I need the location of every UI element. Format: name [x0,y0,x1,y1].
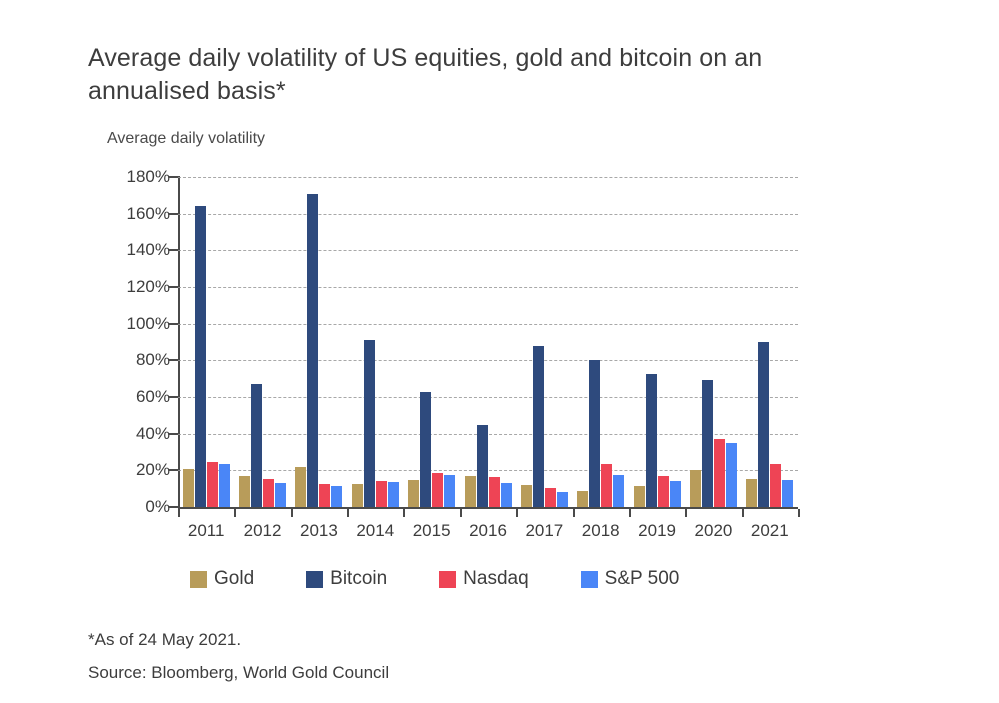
x-axis-tick-label: 2021 [751,521,789,541]
x-axis-tick [573,509,575,517]
y-axis-tick-label: 80% [98,350,170,370]
bar [658,476,669,507]
bar-group [352,177,399,507]
x-axis-line [178,507,798,509]
bar [352,484,363,507]
x-axis-tick-label: 2014 [356,521,394,541]
y-axis-tick-label: 60% [98,387,170,407]
bar [634,486,645,507]
bar [364,340,375,507]
page-title: Average daily volatility of US equities,… [88,42,848,108]
bar [275,483,286,507]
y-axis-tick-label: 120% [98,277,170,297]
bar [545,488,556,507]
bar [183,469,194,507]
bar [388,482,399,507]
y-axis-tick-label: 0% [98,497,170,517]
bar [408,480,419,507]
legend-label: Nasdaq [463,568,529,590]
x-axis-tick-label: 2020 [695,521,733,541]
y-axis-tick-label: 40% [98,424,170,444]
x-axis-tick [403,509,405,517]
footnote-source: Source: Bloomberg, World Gold Council [88,663,389,683]
legend-item[interactable]: Bitcoin [306,568,387,590]
bar [331,486,342,507]
bar [726,443,737,507]
x-axis-labels: 2011201220132014201520162017201820192020… [178,521,798,549]
x-axis-tick [629,509,631,517]
footnote-asof: *As of 24 May 2021. [88,630,241,650]
legend-swatch-icon [306,571,323,588]
legend-item[interactable]: S&P 500 [581,568,680,590]
bar [782,480,793,507]
bar [319,484,330,507]
bar [746,479,757,507]
bar [489,477,500,507]
legend: GoldBitcoinNasdaqS&P 500 [190,568,731,590]
x-axis-tick [291,509,293,517]
y-axis-caption: Average daily volatility [107,130,265,148]
bar [432,473,443,507]
bar [589,360,600,507]
x-axis-tick-label: 2015 [413,521,451,541]
bar [770,464,781,507]
bar [577,491,588,508]
x-axis-tick [685,509,687,517]
legend-label: S&P 500 [605,568,680,590]
y-axis-tick-label: 160% [98,204,170,224]
bar [690,470,701,507]
y-axis-tick-label: 20% [98,460,170,480]
bar [702,380,713,507]
bar-group [465,177,512,507]
bar [670,481,681,507]
x-axis-tick [742,509,744,517]
x-axis-tick-label: 2018 [582,521,620,541]
bar [251,384,262,507]
bar-group [408,177,455,507]
x-axis-tick [460,509,462,517]
bar [195,206,206,507]
bar [444,475,455,507]
bar [477,425,488,507]
legend-label: Bitcoin [330,568,387,590]
bar [295,467,306,507]
bar [601,464,612,507]
bar-group [577,177,624,507]
bar [207,462,218,507]
bar [613,475,624,507]
x-axis-tick [234,509,236,517]
bar [376,481,387,507]
y-axis-labels: 180%160%140%120%100%80%60%40%20%0% [96,177,170,507]
legend-item[interactable]: Gold [190,568,254,590]
bar [501,483,512,507]
x-axis-tick [178,509,180,517]
bar [714,439,725,507]
bar [307,194,318,507]
chart-page: Average daily volatility of US equities,… [0,0,999,703]
x-axis-tick-label: 2016 [469,521,507,541]
bar-group [690,177,737,507]
bar-group [295,177,342,507]
bar [420,392,431,508]
legend-swatch-icon [190,571,207,588]
x-axis-tick-label: 2011 [188,521,225,541]
x-axis-tick-label: 2013 [300,521,338,541]
legend-swatch-icon [439,571,456,588]
bar [557,492,568,507]
bar [533,346,544,507]
legend-item[interactable]: Nasdaq [439,568,529,590]
x-axis-tick [347,509,349,517]
bar [758,342,769,507]
plot-area [178,177,798,507]
x-axis-tick-label: 2019 [638,521,676,541]
x-axis-tick [516,509,518,517]
bar [521,485,532,507]
y-axis-tick-label: 100% [98,314,170,334]
bar [239,476,250,507]
bar [646,374,657,507]
y-axis-tick-label: 140% [98,240,170,260]
bar [465,476,476,507]
bar [219,464,230,507]
bar-group [634,177,681,507]
bar [263,479,274,507]
x-axis-tick-label: 2017 [525,521,563,541]
bar-group [521,177,568,507]
x-axis-tick [798,509,800,517]
bar-group [746,177,793,507]
x-axis-tick-label: 2012 [244,521,282,541]
legend-swatch-icon [581,571,598,588]
y-axis-tick-label: 180% [98,167,170,187]
bar-group [239,177,286,507]
bar-group [183,177,230,507]
legend-label: Gold [214,568,254,590]
